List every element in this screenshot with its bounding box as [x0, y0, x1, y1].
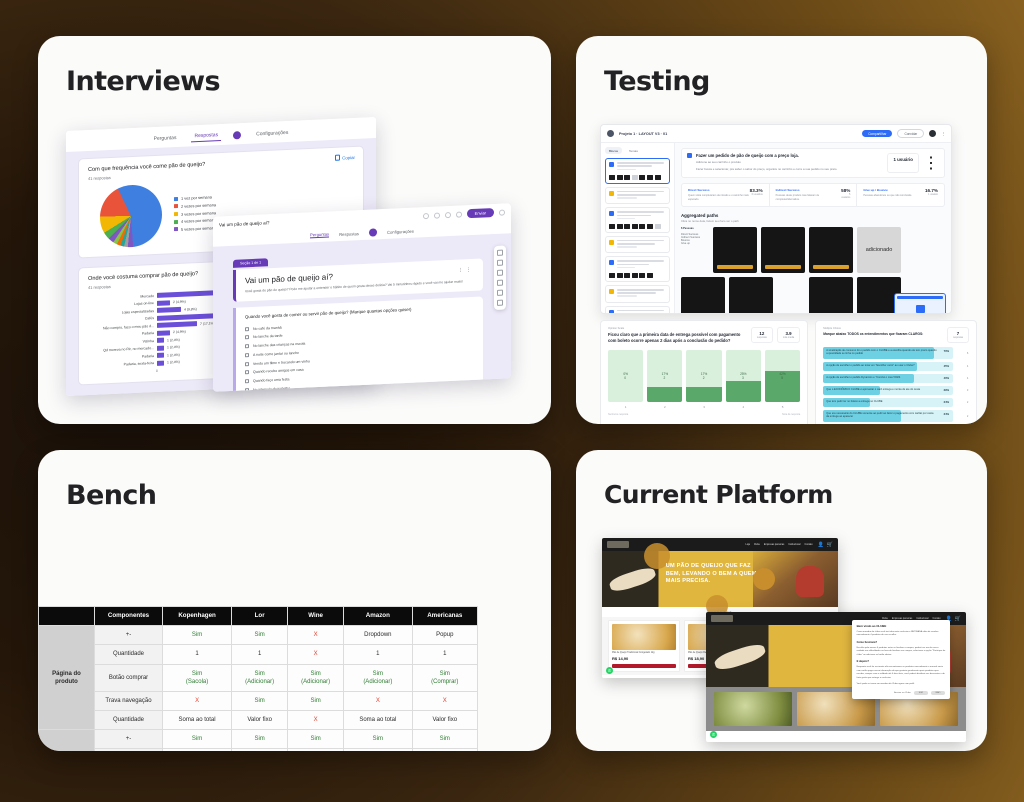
tab-respostas[interactable]: Respostas — [339, 231, 359, 237]
checkbox-icon[interactable] — [245, 344, 249, 348]
modal-cta-label[interactable]: Assinar no Clube — [894, 692, 911, 694]
table-row: Trava navegação X Sim Sim X X — [39, 691, 478, 710]
cell: Sim — [344, 749, 412, 751]
modal-title: Bem vindo ao CLUBE — [857, 624, 946, 628]
cell: Popup — [412, 626, 477, 645]
block-item[interactable] — [605, 306, 670, 314]
checkbox-icon[interactable] — [245, 362, 249, 366]
bar-fill — [157, 353, 164, 359]
tab-perguntas[interactable]: Perguntas — [151, 132, 180, 143]
bar-row: Que tem pedir ter no boleto a entrega no… — [823, 398, 969, 407]
blue-bars: A sinalização de consumo foi o pedido co… — [823, 347, 969, 422]
mission-icon — [609, 260, 614, 265]
block-thumbs — [609, 175, 666, 180]
bar-fill — [647, 387, 682, 402]
legend-swatch — [174, 197, 178, 201]
cell: Sim — [288, 729, 344, 748]
responses-count-badge — [369, 228, 377, 236]
table-row: Quantidade 1 1 X 1 1 — [39, 645, 478, 664]
nav-icons[interactable]: 👤 🛒 — [818, 542, 833, 548]
metric-direct-success: Direct SuccessQuem visita completaram da… — [682, 184, 770, 206]
testing-stage: Projeto 1 · LAYOUT V3 · 01 Compartilhar … — [576, 114, 987, 424]
tab-configuracoes[interactable]: Configurações — [253, 127, 291, 139]
bar-pct: 29% — [944, 389, 949, 392]
form-header-card[interactable]: ⋮⋮ Vai um pão de queijo aí? Você gosta d… — [233, 259, 483, 302]
maze-sidebar[interactable]: Blocos Temas — [601, 143, 675, 314]
paths-legend: 6 Pessoas Direct Success Indirect Succes… — [681, 227, 709, 273]
block-item[interactable] — [605, 207, 670, 233]
task-sub2: Fazer busca e selecionar, pra saber o sa… — [696, 167, 883, 171]
toggle-nao[interactable]: NÃO — [931, 691, 946, 695]
stat-value: 12 — [757, 331, 767, 336]
axis-tick: 0 — [156, 369, 158, 373]
metric-key: Direct Success — [688, 188, 750, 192]
bread-photo — [608, 565, 657, 593]
bar-label: 42%5 ️ — [765, 372, 800, 382]
cell: Sim — [412, 729, 477, 748]
product-price: R$ 14,90 — [612, 656, 676, 661]
option-label: Vendo um filme e trocando um vinho — [253, 359, 310, 366]
bar-pct: 24% — [944, 413, 949, 416]
copy-label: Copiar — [342, 154, 355, 160]
modal-footer-note: Você pode se tornar um membro do Clube a… — [857, 683, 946, 687]
bar: 42%5 ️ — [765, 350, 800, 402]
table-body: Página do produto +- Sim Sim X Dropdown … — [39, 626, 478, 751]
mission-icon — [609, 211, 614, 216]
whatsapp-icon[interactable]: ✆ — [606, 667, 613, 674]
cell: Valor fixo — [412, 710, 477, 729]
stat-label: respostas — [757, 337, 767, 339]
task-sub1: Adicione ao seu carrinho o produto — [696, 160, 883, 164]
bar: 25%3 ️ — [726, 350, 761, 402]
chart-header: Opinion Scale Ficou claro que a primeira… — [608, 327, 800, 344]
page-title-bench: Bench — [66, 480, 523, 511]
path-screen-adicionado[interactable]: adicionado — [857, 227, 901, 273]
cell: Sim — [163, 729, 232, 748]
option-label: No lanche da tarde — [253, 334, 283, 339]
hero-headline: UM PÃO DE QUEIJO QUE FAZ BEM, LEVANDO O … — [666, 563, 760, 586]
tab-blocos[interactable]: Blocos — [605, 147, 622, 154]
green-bars: 0%0 ️ 17%2 ️ 17%2 ️ 25%3 ️ 42%5 ️ — [608, 350, 800, 402]
bar-label: A sinalização de consumo foi o pedido co… — [826, 349, 937, 357]
table-head: Componentes Kopenhagen Lor Wine Amazon A… — [39, 607, 478, 626]
add-title-icon[interactable] — [497, 270, 503, 276]
component-label: Quant. Zero — [95, 749, 163, 751]
cell: Sim (Adicionar) — [232, 664, 288, 691]
metric-desc: Pessoas deste produto mas falaram de com… — [776, 194, 840, 202]
multiple-choice-chart: Multiple Choice Marque abaixo TODOS os e… — [815, 320, 977, 424]
bar: 17%2 ️ — [647, 350, 682, 402]
toggle-sim[interactable]: SIM — [914, 691, 928, 695]
product-card[interactable]: Pão de Queijo Tradicional Congelado 1kgR… — [608, 620, 680, 672]
path-minimap[interactable] — [894, 293, 946, 314]
legend-label: 2 vezes por semana — [181, 202, 216, 209]
metric-desc: Pessoas abandonou ou que não conclusão. — [863, 194, 912, 198]
modal-footer[interactable]: Assinar no Clube SIM NÃO — [857, 691, 946, 695]
more-icon[interactable] — [499, 209, 505, 215]
open-answer-icon — [609, 289, 614, 294]
add-section-icon[interactable] — [497, 300, 503, 306]
table-row: Carrinho +- Sim Sim Sim Sim Sim — [39, 729, 478, 748]
opinion-scale-chart: Opinion Scale Ficou claro que a primeira… — [600, 320, 808, 424]
bread-photo — [713, 641, 767, 672]
metric-note: 1 usuário — [925, 193, 938, 196]
cell: Sim (Sacola) — [163, 664, 232, 691]
more-icon[interactable]: ⋮ — [941, 131, 945, 136]
forms-editor-canvas: Seção 1 de 1 ⋮⋮ Vai um pão de queijo aí?… — [213, 233, 511, 392]
chart-footer: Nenhuma resposta Nota da resposta — [608, 413, 800, 416]
cell: X — [163, 749, 232, 751]
task-title: Fazer um pedido de pão de queijo com a p… — [696, 153, 883, 158]
bar-count: 2 ️ — [957, 415, 969, 418]
nav-link-institucional[interactable]: Institucional — [788, 544, 800, 546]
stat-responses: 12respostas — [751, 327, 773, 343]
cell: Sim (Adicionar) — [288, 664, 344, 691]
chart-header: Multiple Choice Marque abaixo TODOS os e… — [823, 327, 969, 343]
avatar[interactable] — [929, 130, 936, 137]
metric-note: 6 usuários — [750, 193, 763, 196]
chart-tag: Opinion Scale — [608, 327, 745, 330]
bar-count: 4 ️ — [957, 365, 969, 368]
bar-fill — [157, 360, 164, 366]
bar-pct: 45% — [944, 365, 949, 368]
bar-label: A opção de escolher o pedido Dynamics e … — [826, 376, 937, 380]
clube-modal[interactable]: Bem vindo ao CLUBE Como membro do clube … — [852, 620, 951, 699]
legend-swatch — [174, 204, 178, 208]
task-more-icon[interactable]: ⋮ — [923, 153, 939, 173]
maze-toolbar[interactable]: Projeto 1 · LAYOUT V3 · 01 Compartilhar … — [601, 125, 951, 143]
cell: X — [288, 645, 344, 664]
cart-icon[interactable]: 🛒 — [955, 616, 961, 622]
bar-fill — [157, 338, 164, 344]
site-navbar[interactable]: Loja Clube Empresas parceiras Institucio… — [602, 538, 838, 551]
tab-respostas[interactable]: Respostas — [191, 130, 221, 142]
tab-perguntas[interactable]: Perguntas — [310, 231, 329, 238]
undo-icon[interactable] — [445, 211, 451, 217]
stat-average: 3.9nota média — [777, 327, 800, 343]
cell: X — [412, 691, 477, 710]
legend-item: 4 vezes por semana — [174, 217, 216, 224]
col-componentes: Componentes — [95, 607, 163, 626]
table-row: Quantidade Soma ao total Valor fixo X So… — [39, 710, 478, 729]
legend-swatch — [174, 220, 178, 224]
page-title-testing: Testing — [604, 66, 959, 97]
cell: Sim (Comprar) — [412, 664, 477, 691]
path-screen[interactable] — [809, 227, 853, 273]
stat-value: 3.9 — [783, 331, 794, 336]
axis-tick: 4 — [726, 405, 761, 409]
cell: Dropdown — [344, 626, 412, 645]
minimap-titlebar — [897, 296, 943, 299]
legend-item: 1 vez por semana — [174, 195, 216, 202]
send-button[interactable]: Enviar — [467, 208, 494, 218]
bar-count: 2 ️ — [957, 401, 969, 404]
cell: Sim — [288, 691, 344, 710]
hero-badge — [753, 568, 775, 590]
block-item[interactable] — [605, 158, 670, 184]
option-label: No café da manhã — [253, 325, 282, 330]
modal-p2: Enquanto você for assinante não encontra… — [857, 666, 946, 680]
product-name: Pão de Queijo Tradicional Congelado 1kg — [612, 652, 676, 655]
testing-charts-row: Opinion Scale Ficou claro que a primeira… — [600, 320, 977, 424]
interviews-stage: Perguntas Respostas Configurações Copiar… — [38, 114, 551, 424]
checkbox-icon[interactable] — [245, 388, 249, 392]
maze-logo-icon — [607, 130, 614, 137]
cell: X — [288, 626, 344, 645]
maze-body: Blocos Temas — [601, 143, 951, 314]
col-blank — [39, 607, 95, 626]
path-screen[interactable] — [761, 227, 805, 273]
checkbox-icon[interactable] — [245, 353, 249, 357]
bar-value: 1 (2,4%) — [167, 345, 180, 350]
block-item[interactable] — [605, 236, 670, 254]
cell: Soma ao total — [344, 710, 412, 729]
redo-icon[interactable] — [456, 211, 462, 217]
nav-link-contato[interactable]: Contato — [804, 544, 812, 546]
mission-icon — [687, 153, 692, 158]
option-label: A noite como jantar ou lanche — [253, 351, 299, 357]
task-card: Fazer um pedido de pão de queijo com a p… — [681, 148, 945, 178]
product-image — [612, 624, 676, 650]
axis-tick: 1 — [608, 405, 643, 409]
bar-pct: 24% — [944, 401, 949, 404]
copy-button[interactable]: Copiar — [335, 154, 355, 161]
path-screen[interactable] — [681, 277, 725, 314]
chart-question: Ficou claro que a primeira data de entre… — [608, 332, 745, 344]
brand-logo[interactable] — [607, 541, 629, 548]
bar-fill — [157, 300, 170, 306]
task-stat: 1 usuário — [887, 153, 919, 173]
add-question-icon[interactable] — [497, 250, 503, 256]
card-current-platform: Current Platform Loja Clube Empresas par… — [576, 450, 987, 751]
stat-value: 7 — [953, 331, 963, 336]
invite-button[interactable]: Convidar — [897, 129, 924, 138]
metric-key: Indirect Success — [776, 188, 840, 192]
breadcrumb[interactable]: Projeto 1 · LAYOUT V3 · 01 — [619, 132, 857, 136]
forms-side-toolbar[interactable] — [494, 245, 506, 310]
bar-count: 6 ️ — [957, 352, 969, 355]
legend-item: 2 vezes por semana — [174, 202, 216, 209]
component-label: +- — [95, 729, 163, 748]
section-tab[interactable]: Seção 1 de 1 — [233, 258, 268, 268]
pie-chart — [100, 184, 162, 249]
more-options-icon[interactable]: ⋮⋮ — [458, 267, 474, 274]
option-label: No intervalo do trabalho — [253, 386, 290, 392]
bench-table: Componentes Kopenhagen Lor Wine Amazon A… — [38, 606, 478, 751]
board: Interviews Perguntas Respostas Configura… — [0, 0, 1024, 802]
bar-count: 4 ️ — [957, 377, 969, 380]
cell: X — [163, 691, 232, 710]
checkbox-icon[interactable] — [245, 327, 249, 331]
bar-value: 2 (4,9%) — [173, 330, 186, 335]
col-amazon: Amazon — [344, 607, 412, 626]
chart-tag: Multiple Choice — [823, 327, 941, 330]
legend-swatch — [174, 227, 178, 231]
option-label: Quando faço uma festa — [253, 377, 289, 383]
component-label: Quantidade — [95, 710, 163, 729]
chart-stats: 12respostas 3.9nota média — [751, 327, 800, 343]
form-question-card[interactable]: Quando você gosta de comer ou servir pão… — [233, 297, 483, 392]
tab-temas[interactable]: Temas — [625, 147, 642, 154]
block-item[interactable] — [605, 285, 670, 303]
cell: Sim — [232, 729, 288, 748]
nav-link-clube[interactable]: Clube — [754, 544, 760, 546]
metric-key: Give up / Bounce — [863, 188, 912, 192]
option-label: No lanche das crianças na escola — [253, 342, 305, 348]
cell: Soma ao total — [163, 710, 232, 729]
responses-count-badge — [233, 131, 241, 139]
cell: 1 — [163, 645, 232, 664]
col-wine: Wine — [288, 607, 344, 626]
block-item[interactable] — [605, 187, 670, 205]
card-interviews: Interviews Perguntas Respostas Configura… — [38, 36, 551, 424]
component-label: Trava navegação — [95, 691, 163, 710]
share-button[interactable]: Compartilhar — [862, 130, 892, 137]
import-questions-icon[interactable] — [497, 260, 503, 266]
metric-desc: Quem visita completaram da missão e o ca… — [688, 194, 750, 202]
bar-row: Que o ECONÔMICO CLUBE é aproveitar o car… — [823, 386, 969, 395]
bar-label: 25%3 ️ — [726, 372, 761, 382]
component-label: Botão comprar — [95, 664, 163, 691]
brand-logo[interactable] — [711, 615, 733, 622]
bar-value: 1 (2,4%) — [167, 360, 180, 365]
table-row: Quant. Zero X X X Sim X — [39, 749, 478, 751]
bar-fill — [726, 381, 761, 402]
cell: 1 — [232, 645, 288, 664]
component-label: Quantidade — [95, 645, 163, 664]
modal-q2: E depois? — [857, 660, 946, 663]
cell: Sim — [344, 729, 412, 748]
checkbox-icon[interactable] — [245, 371, 249, 375]
bar-fill — [686, 387, 721, 402]
bar-value: 1 (2,4%) — [167, 353, 180, 358]
cell: 1 — [412, 645, 477, 664]
modal-title-text: Bem vindo ao CLUBE — [857, 624, 887, 628]
google-forms-editor-window[interactable]: Vai um pão de queijo aí? Enviar Pergunta… — [213, 203, 511, 392]
path-screen[interactable] — [729, 277, 773, 314]
user-icon[interactable]: 👤 — [818, 542, 824, 548]
bar: 0%0 ️ — [608, 350, 643, 402]
platform-stage: Loja Clube Empresas parceiras Institucio… — [576, 528, 987, 751]
add-image-icon[interactable] — [497, 280, 503, 286]
sidebar-tabs[interactable]: Blocos Temas — [605, 147, 670, 154]
option-label: Quando recebo amigos em casa — [253, 368, 304, 374]
metric-indirect-success: Indirect SuccessPessoas deste produto ma… — [770, 184, 858, 206]
hero-banner: UM PÃO DE QUEIJO QUE FAZ BEM, LEVANDO O … — [602, 551, 838, 607]
buy-button[interactable] — [612, 664, 676, 668]
cart-icon[interactable]: 🛒 — [827, 542, 833, 548]
nav-link-loja[interactable]: Loja — [746, 544, 750, 546]
pie-legend: 1 vez por semana 2 vezes por semana 3 ve… — [174, 195, 216, 232]
bar-value: 4 (9,8%) — [184, 307, 197, 312]
path-screen[interactable] — [713, 227, 757, 273]
legend-label: 1 vez por semana — [181, 195, 212, 201]
modal-p1: Escolha pelo menos 4 produtos entre os f… — [857, 647, 946, 658]
cell: X — [412, 749, 477, 751]
card-testing: Testing Projeto 1 · LAYOUT V3 · 01 Compa… — [576, 36, 987, 424]
group-label-produto: Página do produto — [39, 626, 95, 730]
col-lor: Lor — [232, 607, 288, 626]
cell: X — [344, 691, 412, 710]
legend-label: 4 vezes por semana — [181, 217, 216, 224]
cell: X — [288, 749, 344, 751]
paths-legend-item: Give up — [681, 242, 709, 245]
preview-icon[interactable] — [434, 212, 440, 218]
cell: Sim — [232, 691, 288, 710]
stat-label: respostas — [953, 337, 963, 339]
copy-icon — [335, 155, 340, 161]
ecommerce-clube-modal-screenshot[interactable]: Clube Empresas parceiras Institucional C… — [706, 612, 966, 742]
green-axis: 1 2 3 4 5 — [608, 405, 800, 409]
cell: Valor fixo — [232, 710, 288, 729]
footer-right: Nota da resposta — [782, 413, 800, 416]
cell: X — [288, 710, 344, 729]
group-label-carrinho: Carrinho — [39, 729, 95, 751]
block-title — [617, 162, 666, 172]
add-video-icon[interactable] — [497, 290, 503, 296]
bar-count: 3 ️ — [957, 389, 969, 392]
cell: Sim — [163, 626, 232, 645]
table-header-row: Componentes Kopenhagen Lor Wine Amazon A… — [39, 607, 478, 626]
palette-icon[interactable] — [423, 212, 429, 218]
open-answer-icon — [609, 191, 614, 196]
path-screen[interactable] — [809, 277, 853, 314]
metrics-row: Direct SuccessQuem visita completaram da… — [681, 183, 945, 207]
paths-legend-title: 6 Pessoas — [681, 227, 709, 230]
axis-tick: 3 — [686, 405, 721, 409]
paths-title: Aggregated paths — [681, 213, 945, 218]
legend-item: 3 vezes por semana — [174, 210, 216, 217]
page-title-current-platform: Current Platform — [604, 480, 959, 509]
cell: 1 — [344, 645, 412, 664]
minimap-node — [916, 305, 925, 313]
bar-row: A opção de escolher o pedido Dynamics e … — [823, 374, 969, 383]
cell: Sim (Adicionar) — [344, 664, 412, 691]
block-item[interactable] — [605, 256, 670, 282]
bar-label: 17%2 ️ — [647, 372, 682, 382]
checkbox-icon[interactable] — [245, 379, 249, 383]
checkbox-icon[interactable] — [245, 335, 249, 339]
table-row: Botão comprar Sim (Sacola) Sim (Adiciona… — [39, 664, 478, 691]
page-title-interviews: Interviews — [66, 66, 523, 97]
stat-label: nota média — [783, 337, 794, 339]
tab-configuracoes[interactable]: Configurações — [387, 228, 414, 234]
bar-fill — [157, 345, 164, 351]
maze-main-panel: Fazer um pedido de pão de queijo com a p… — [675, 143, 951, 314]
bar-fill — [157, 307, 181, 313]
legend-item: 5 vezes por semana — [174, 225, 216, 232]
task-stat-value: 1 usuário — [893, 157, 913, 162]
metric-note: 5 usuários — [840, 193, 850, 199]
bar-row: A opção de escolher o pedido ao tocar em… — [823, 362, 969, 371]
legend-swatch — [174, 212, 178, 216]
bar-label: 0%0 ️ — [608, 372, 643, 382]
whatsapp-icon[interactable]: ✆ — [710, 731, 717, 738]
open-answer-icon — [609, 240, 614, 245]
bench-stage: Componentes Kopenhagen Lor Wine Amazon A… — [38, 528, 551, 751]
table-row: Página do produto +- Sim Sim X Dropdown … — [39, 626, 478, 645]
bar-label: A opção de escolher o pedido ao tocar em… — [826, 364, 937, 368]
maze-dashboard-window[interactable]: Projeto 1 · LAYOUT V3 · 01 Compartilhar … — [600, 124, 952, 314]
bar-label: 17%2 ️ — [686, 372, 721, 382]
modal-q1: Como funciona? — [857, 641, 946, 644]
bar-label: Que era necessário do CLUBE somente ao p… — [826, 412, 937, 420]
bar-fill — [157, 330, 170, 336]
stat-responses: 7respostas — [947, 327, 969, 343]
axis-tick: 2 — [647, 405, 682, 409]
bar-row: A sinalização de consumo foi o pedido co… — [823, 347, 969, 359]
nav-link-empresas[interactable]: Empresas parceiras — [764, 544, 784, 546]
